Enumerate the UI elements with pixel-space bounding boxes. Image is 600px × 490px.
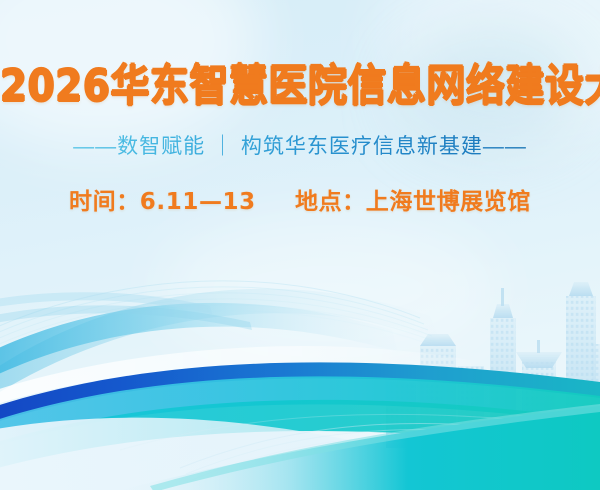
poster-text-stack: 2026华东智慧医院信息网络建设大会 ——数智赋能 ｜ 构筑华东医疗信息新基建—… (0, 0, 600, 218)
building-grid-tower (458, 366, 484, 448)
conference-poster: 2026华东智慧医院信息网络建设大会 ——数智赋能 ｜ 构筑华东医疗信息新基建—… (0, 0, 600, 490)
event-date: 时间：6.11—13 (69, 189, 256, 215)
building-low-block-left (386, 382, 416, 448)
building-tall-tower-right (566, 282, 596, 448)
wave-teal-band (0, 400, 600, 470)
wave-left-tails (0, 292, 252, 330)
building-crown-tower (516, 340, 562, 448)
wave-bottom-teal-fill (120, 406, 600, 490)
wave-hairlines-lower (120, 414, 600, 486)
sky-glow-center (160, 215, 500, 365)
building-slim-far-right (592, 344, 600, 448)
building-fillers (408, 388, 568, 448)
event-venue: 地点：上海世博展览馆 (295, 189, 531, 215)
building-spire-tower (490, 288, 516, 448)
wave-pale-arc (0, 289, 440, 398)
wave-bottom-highlight (150, 404, 600, 490)
wave-hairlines-upper (0, 281, 440, 360)
page-title: 2026华东智慧医院信息网络建设大会 (0, 0, 600, 113)
building-stepped-tower (420, 334, 456, 448)
poster-info-line: 时间：6.11—13 地点：上海世博展览馆 (0, 162, 600, 218)
wave-deep-blue-ribbon (0, 362, 600, 424)
wave-cyan-arc (0, 303, 398, 378)
wave-cyan-band (0, 376, 600, 448)
wave-white-swoosh (0, 346, 474, 406)
wave-soft-foreground (0, 418, 600, 490)
